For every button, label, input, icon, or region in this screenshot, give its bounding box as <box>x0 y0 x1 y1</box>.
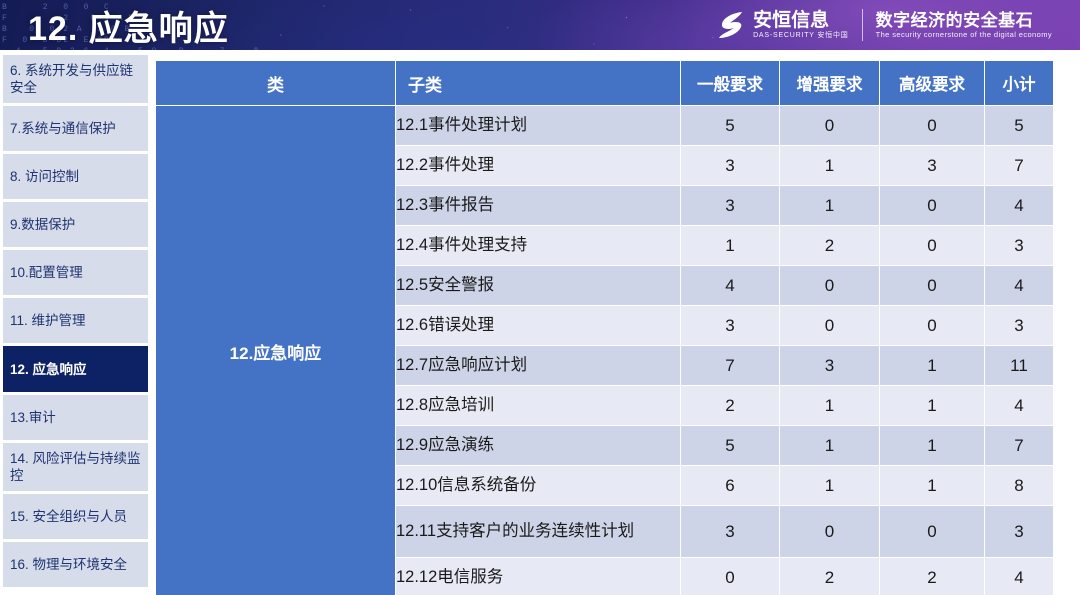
table-body: 12.应急响应 12.1事件处理计划 5 0 0 5 12.2事件处理 3 1 … <box>156 106 1054 595</box>
brand-slogan-cn: 数字经济的安全基石 <box>876 11 1052 30</box>
cell-enhanced: 1 <box>780 146 880 186</box>
table-head: 类 子类 一般要求 增强要求 高级要求 小计 <box>156 61 1054 106</box>
cell-subtotal: 5 <box>985 106 1054 146</box>
cell-enhanced: 1 <box>780 386 880 426</box>
cell-general: 4 <box>681 266 780 306</box>
brand-logo: 安恒信息 DAS-SECURITY 安恒中国 数字经济的安全基石 The sec… <box>718 5 1052 45</box>
cell-subtotal: 4 <box>985 386 1054 426</box>
cell-enhanced: 0 <box>780 306 880 346</box>
cell-general: 7 <box>681 346 780 386</box>
col-header-enhanced: 增强要求 <box>780 61 880 106</box>
cell-general: 3 <box>681 506 780 558</box>
cell-enhanced: 1 <box>780 466 880 506</box>
cell-subtotal: 7 <box>985 426 1054 466</box>
cell-general: 3 <box>681 186 780 226</box>
cell-enhanced: 0 <box>780 106 880 146</box>
sidebar-item-label: 11. 维护管理 <box>10 312 86 329</box>
cell-enhanced: 0 <box>780 506 880 558</box>
sidebar-item-13[interactable]: 13.审计 <box>3 395 148 440</box>
sidebar-item-label: 14. 风险评估与持续监控 <box>10 450 141 484</box>
cell-subtotal: 3 <box>985 306 1054 346</box>
cell-advanced: 0 <box>880 186 985 226</box>
cell-advanced: 0 <box>880 306 985 346</box>
sidebar-item-14[interactable]: 14. 风险评估与持续监控 <box>3 443 148 491</box>
cell-subtotal: 7 <box>985 146 1054 186</box>
sidebar-item-label: 7.系统与通信保护 <box>10 120 116 137</box>
brand-name-cn: 安恒信息 <box>753 11 849 31</box>
category-cell: 12.应急响应 <box>156 106 396 595</box>
cell-advanced: 1 <box>880 466 985 506</box>
cell-advanced: 0 <box>880 106 985 146</box>
sidebar-item-16[interactable]: 16. 物理与环境安全 <box>3 542 148 587</box>
col-header-subcategory: 子类 <box>396 61 681 106</box>
cell-subtotal: 8 <box>985 466 1054 506</box>
sidebar-item-7[interactable]: 7.系统与通信保护 <box>3 106 148 151</box>
swirl-logo-icon <box>718 10 744 40</box>
sidebar-item-label: 15. 安全组织与人员 <box>10 508 127 525</box>
cell-subcategory: 12.1事件处理计划 <box>396 106 681 146</box>
cell-subcategory: 12.3事件报告 <box>396 186 681 226</box>
cell-subtotal: 11 <box>985 346 1054 386</box>
sidebar-item-label: 9.数据保护 <box>10 216 75 233</box>
cell-general: 5 <box>681 426 780 466</box>
sidebar-item-label: 8. 访问控制 <box>10 168 79 185</box>
cell-general: 2 <box>681 386 780 426</box>
cell-enhanced: 2 <box>780 226 880 266</box>
sidebar-item-6[interactable]: 6. 系统开发与供应链安全 <box>3 55 148 103</box>
requirements-table-wrap: 类 子类 一般要求 增强要求 高级要求 小计 12.应急响应 12.1事件处理计… <box>155 60 1053 595</box>
cell-enhanced: 1 <box>780 426 880 466</box>
sidebar-item-10[interactable]: 10.配置管理 <box>3 250 148 295</box>
sidebar-item-label: 12. 应急响应 <box>10 361 87 378</box>
cell-advanced: 0 <box>880 506 985 558</box>
sidebar-item-label: 16. 物理与环境安全 <box>10 556 127 573</box>
cell-subtotal: 4 <box>985 186 1054 226</box>
cell-advanced: 1 <box>880 386 985 426</box>
cell-subtotal: 4 <box>985 558 1054 595</box>
cell-general: 5 <box>681 106 780 146</box>
requirements-table: 类 子类 一般要求 增强要求 高级要求 小计 12.应急响应 12.1事件处理计… <box>155 60 1054 595</box>
brand-name-block: 安恒信息 DAS-SECURITY 安恒中国 <box>753 11 849 40</box>
page-title: 12. 应急响应 <box>28 1 229 50</box>
cell-advanced: 1 <box>880 346 985 386</box>
cell-general: 3 <box>681 306 780 346</box>
brand-slogan-en: The security cornerstone of the digital … <box>876 30 1052 40</box>
sidebar-item-11[interactable]: 11. 维护管理 <box>3 298 148 343</box>
cell-subcategory: 12.12电信服务 <box>396 558 681 595</box>
cell-enhanced: 3 <box>780 346 880 386</box>
cell-general: 1 <box>681 226 780 266</box>
cell-enhanced: 2 <box>780 558 880 595</box>
cell-advanced: 3 <box>880 146 985 186</box>
sidebar-nav[interactable]: 6. 系统开发与供应链安全 7.系统与通信保护 8. 访问控制 9.数据保护 1… <box>0 50 150 595</box>
cell-advanced: 0 <box>880 226 985 266</box>
sidebar-item-12[interactable]: 12. 应急响应 <box>3 346 148 392</box>
cell-subtotal: 3 <box>985 226 1054 266</box>
cell-subcategory: 12.10信息系统备份 <box>396 466 681 506</box>
cell-advanced: 0 <box>880 266 985 306</box>
cell-general: 3 <box>681 146 780 186</box>
sidebar-item-label: 13.审计 <box>10 409 56 426</box>
col-header-general: 一般要求 <box>681 61 780 106</box>
table-row: 12.应急响应 12.1事件处理计划 5 0 0 5 <box>156 106 1054 146</box>
col-header-subtotal: 小计 <box>985 61 1054 106</box>
cell-subcategory: 12.4事件处理支持 <box>396 226 681 266</box>
logo-divider <box>862 9 863 41</box>
slide-root: B 2 0 0 C F 2 0 4 A B 0 0 2 A 1 0 B F 0 … <box>0 0 1080 595</box>
brand-name-en: DAS-SECURITY 安恒中国 <box>753 31 849 40</box>
sidebar-item-label: 10.配置管理 <box>10 264 83 281</box>
cell-subtotal: 4 <box>985 266 1054 306</box>
cell-subcategory: 12.2事件处理 <box>396 146 681 186</box>
cell-advanced: 1 <box>880 426 985 466</box>
cell-advanced: 2 <box>880 558 985 595</box>
cell-subcategory: 12.11支持客户的业务连续性计划 <box>396 506 681 558</box>
sidebar-item-8[interactable]: 8. 访问控制 <box>3 154 148 199</box>
brand-slogan-block: 数字经济的安全基石 The security cornerstone of th… <box>876 11 1052 40</box>
cell-subcategory: 12.6错误处理 <box>396 306 681 346</box>
cell-subtotal: 3 <box>985 506 1054 558</box>
cell-enhanced: 0 <box>780 266 880 306</box>
cell-subcategory: 12.5安全警报 <box>396 266 681 306</box>
table-header-row: 类 子类 一般要求 增强要求 高级要求 小计 <box>156 61 1054 106</box>
header-banner: B 2 0 0 C F 2 0 4 A B 0 0 2 A 1 0 B F 0 … <box>0 0 1080 50</box>
cell-subcategory: 12.7应急响应计划 <box>396 346 681 386</box>
cell-general: 6 <box>681 466 780 506</box>
cell-general: 0 <box>681 558 780 595</box>
cell-subcategory: 12.9应急演练 <box>396 426 681 466</box>
cell-enhanced: 1 <box>780 186 880 226</box>
sidebar-item-9[interactable]: 9.数据保护 <box>3 202 148 247</box>
col-header-advanced: 高级要求 <box>880 61 985 106</box>
sidebar-item-label: 6. 系统开发与供应链安全 <box>10 62 141 96</box>
sidebar-item-15[interactable]: 15. 安全组织与人员 <box>3 494 148 539</box>
col-header-category: 类 <box>156 61 396 106</box>
cell-subcategory: 12.8应急培训 <box>396 386 681 426</box>
